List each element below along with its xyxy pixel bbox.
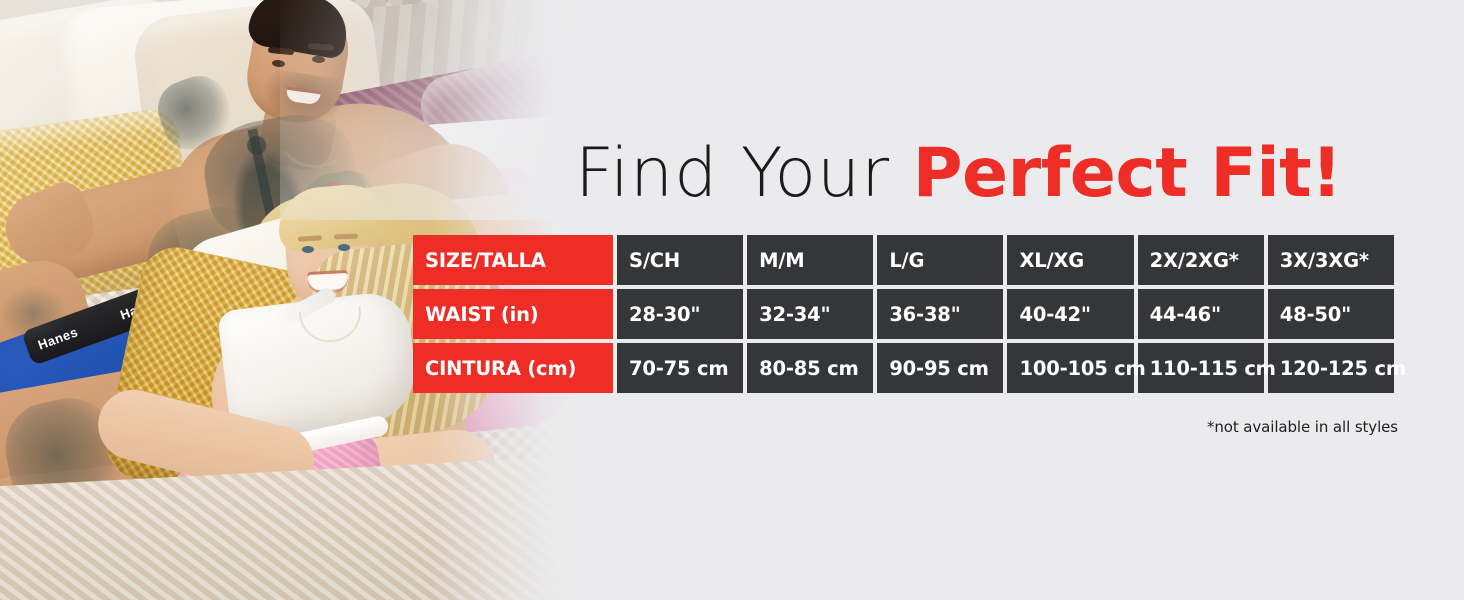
row-label-size: SIZE/TALLA [413,235,613,285]
waist-cm-xl: 100-105 cm [1007,343,1133,393]
woman-eye-right [338,244,350,251]
table-row-sizes: SIZE/TALLA S/CH M/M L/G XL/XG 2X/2XG* 3X… [413,235,1394,285]
waist-cm-m: 80-85 cm [747,343,873,393]
waist-in-xl: 40-42" [1007,289,1133,339]
size-header-2x: 2X/2XG* [1138,235,1264,285]
row-label-cintura-cm: CINTURA (cm) [413,343,613,393]
size-header-m: M/M [747,235,873,285]
size-header-l: L/G [877,235,1003,285]
waist-in-3x: 48-50" [1268,289,1394,339]
waist-cm-l: 90-95 cm [877,343,1003,393]
find-your-perfect-fit-banner: Hanes Hanes Hanes [0,0,1464,600]
waist-in-m: 32-34" [747,289,873,339]
waist-cm-3x: 120-125 cm [1268,343,1394,393]
headline-plain: Find Your [575,134,913,213]
content-area: Find Your Perfect Fit! SIZE/TALLA S/CH M… [409,0,1464,600]
woman-eyebrow-right [334,234,358,240]
footnote-text: *not available in all styles [409,418,1398,436]
row-label-waist-in: WAIST (in) [413,289,613,339]
size-header-xl: XL/XG [1007,235,1133,285]
waist-in-l: 36-38" [877,289,1003,339]
size-header-s: S/CH [617,235,743,285]
waist-in-s: 28-30" [617,289,743,339]
size-header-3x: 3X/3XG* [1268,235,1394,285]
table-row-waist-cm: CINTURA (cm) 70-75 cm 80-85 cm 90-95 cm … [413,343,1394,393]
waist-in-2x: 44-46" [1138,289,1264,339]
page-title: Find Your Perfect Fit! [575,140,1342,208]
waist-cm-2x: 110-115 cm [1138,343,1264,393]
size-chart-table: SIZE/TALLA S/CH M/M L/G XL/XG 2X/2XG* 3X… [409,231,1398,397]
waist-cm-s: 70-75 cm [617,343,743,393]
table-row-waist-inches: WAIST (in) 28-30" 32-34" 36-38" 40-42" 4… [413,289,1394,339]
headline-accent: Perfect Fit! [913,134,1342,213]
woman-eye-left [302,246,314,253]
